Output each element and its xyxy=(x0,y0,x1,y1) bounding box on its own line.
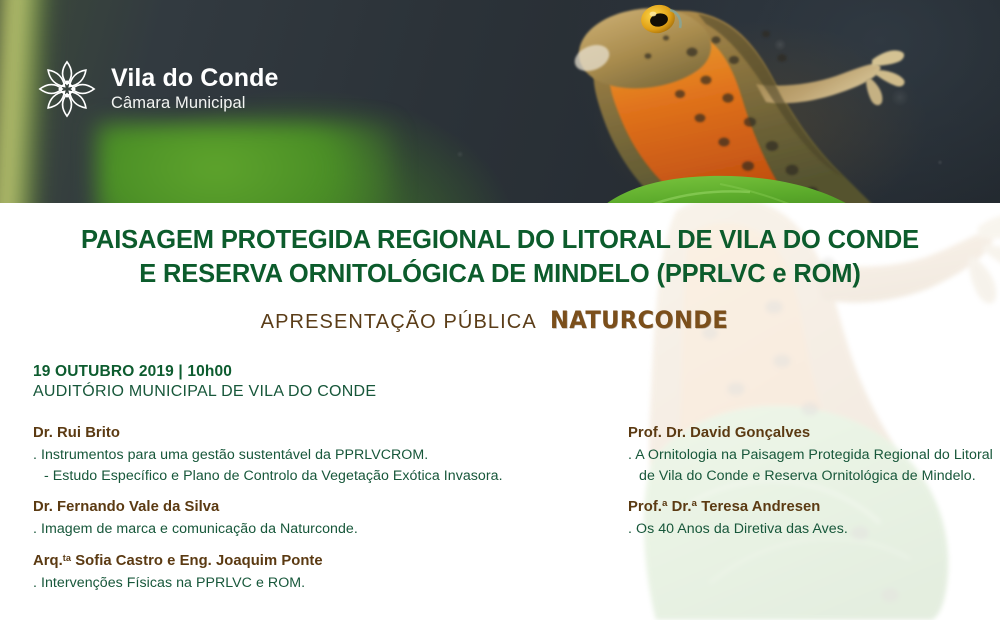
subtitle-row: APRESENTAÇÃO PÚBLICA NATURCONDE xyxy=(0,306,1000,334)
speaker-topic: . Imagem de marca e comunicação da Natur… xyxy=(33,519,565,540)
speaker-topic: de Vila do Conde e Reserva Ornitológica … xyxy=(628,466,1000,487)
logo-title: Vila do Conde xyxy=(111,66,279,91)
speaker-topic: - Estudo Específico e Plano de Controlo … xyxy=(33,466,565,487)
speaker-name: Prof.ª Dr.ª Teresa Andresen xyxy=(628,499,1000,515)
speaker-name: Dr. Rui Brito xyxy=(33,425,565,441)
speaker-name-text: Dr. Fernando Vale da Silva xyxy=(33,499,219,515)
vila-do-conde-rosette-icon xyxy=(36,58,98,120)
poster-root: Vila do Conde Câmara Municipal xyxy=(0,0,1000,620)
speaker-entry: Arq.ta Sofia Castro e Eng. Joaquim Ponte… xyxy=(33,553,565,594)
speaker-topic: . A Ornitologia na Paisagem Protegida Re… xyxy=(628,445,1000,466)
speakers-column-right: Prof. Dr. David Gonçalves . A Ornitologi… xyxy=(565,425,1000,594)
naturconde-brand-logotype: NATURCONDE xyxy=(550,306,728,334)
logo-subtitle: Câmara Municipal xyxy=(111,95,279,112)
speaker-name-text: Prof.ª Dr.ª Teresa Andresen xyxy=(628,499,820,515)
speaker-entry: Prof. Dr. David Gonçalves . A Ornitologi… xyxy=(628,425,1000,486)
speaker-entry: Dr. Rui Brito . Instrumentos para uma ge… xyxy=(33,425,565,486)
speaker-name-text: Prof. Dr. David Gonçalves xyxy=(628,425,810,441)
speaker-name: Dr. Fernando Vale da Silva xyxy=(33,499,565,515)
speaker-entry: Prof.ª Dr.ª Teresa Andresen . Os 40 Anos… xyxy=(628,499,1000,540)
hero-photo-band: Vila do Conde Câmara Municipal xyxy=(0,0,1000,203)
speaker-name: Prof. Dr. David Gonçalves xyxy=(628,425,1000,441)
speaker-topic: . Instrumentos para uma gestão sustentáv… xyxy=(33,445,565,466)
speaker-name-text: Dr. Rui Brito xyxy=(33,425,120,441)
speaker-name: Arq.ta Sofia Castro e Eng. Joaquim Ponte xyxy=(33,553,565,569)
event-venue: AUDITÓRIO MUNICIPAL DE VILA DO CONDE xyxy=(33,383,376,401)
speaker-name-text: Arq. xyxy=(33,553,63,569)
poster-content: PAISAGEM PROTEGIDA REGIONAL DO LITORAL D… xyxy=(0,203,1000,620)
speaker-topic: . Intervenções Físicas na PPRLVC e ROM. xyxy=(33,573,565,594)
speaker-entry: Dr. Fernando Vale da Silva . Imagem de m… xyxy=(33,499,565,540)
speaker-topic: . Os 40 Anos da Diretiva das Aves. xyxy=(628,519,1000,540)
speakers-column-left: Dr. Rui Brito . Instrumentos para uma ge… xyxy=(0,425,565,594)
event-date: 19 OUTUBRO 2019 | 10h00 xyxy=(33,363,376,381)
logo-wordmark: Vila do Conde Câmara Municipal xyxy=(111,66,279,112)
green-leaf xyxy=(570,172,910,203)
event-when-where: 19 OUTUBRO 2019 | 10h00 AUDITÓRIO MUNICI… xyxy=(33,363,376,401)
speaker-name-text-2: Sofia Castro e Eng. Joaquim Ponte xyxy=(71,553,323,569)
page-title-line-1: PAISAGEM PROTEGIDA REGIONAL DO LITORAL D… xyxy=(0,224,1000,258)
municipality-logo[interactable]: Vila do Conde Câmara Municipal xyxy=(36,58,279,120)
title-block: PAISAGEM PROTEGIDA REGIONAL DO LITORAL D… xyxy=(0,203,1000,334)
subtitle-text: APRESENTAÇÃO PÚBLICA xyxy=(261,311,537,334)
speaker-name-superscript: ta xyxy=(63,553,71,563)
page-title-line-2: E RESERVA ORNITOLÓGICA DE MINDELO (PPRLV… xyxy=(0,258,1000,292)
speakers-columns: Dr. Rui Brito . Instrumentos para uma ge… xyxy=(0,425,1000,594)
